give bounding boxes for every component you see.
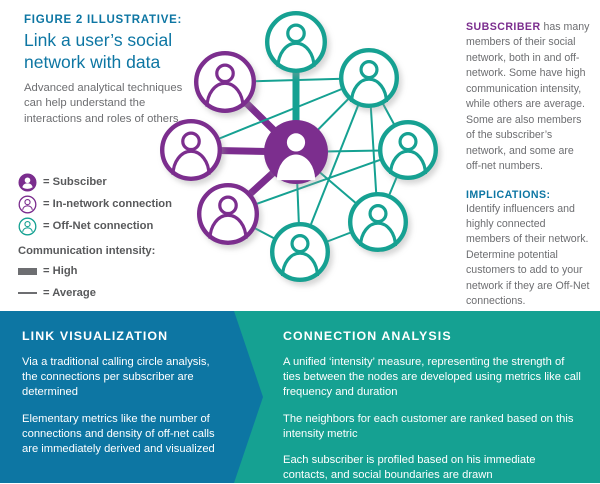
legend-label-high: = High: [43, 265, 78, 277]
subscriber-paragraph: SUBSCRIBER has many members of their soc…: [466, 20, 590, 175]
implications-paragraph: Identify influencers and highly connecte…: [466, 202, 590, 310]
right-annotations: SUBSCRIBER has many members of their soc…: [466, 20, 590, 324]
network-graph-svg: [150, 0, 450, 300]
infographic-page: FIGURE 2 ILLUSTRATIVE: Link a user’s soc…: [0, 0, 600, 483]
person-head-icon: [287, 133, 305, 151]
network-node-top-left[interactable]: [196, 53, 254, 111]
implications-heading: IMPLICATIONS:: [466, 189, 590, 201]
subscriber-body-text: has many members of their social network…: [466, 21, 589, 172]
link-visualization-para-2: Elementary metrics like the number of co…: [22, 412, 222, 458]
subscriber-filled-person-icon: [18, 173, 37, 192]
off-net-person-outline-icon: [18, 217, 37, 236]
legend-label-average: = Average: [43, 287, 96, 299]
social-network-diagram: [150, 0, 450, 300]
legend-label-off-net: = Off-Net connection: [43, 220, 153, 232]
link-visualization-para-1: Via a traditional calling circle analysi…: [22, 355, 222, 401]
network-nodes: [162, 13, 436, 280]
connection-analysis-para-1: A unified ‘intensity’ measure, represent…: [283, 355, 583, 401]
network-node-bottom[interactable]: [272, 224, 328, 280]
in-network-person-outline-icon: [18, 195, 37, 214]
network-node-top-right[interactable]: [341, 50, 397, 106]
network-node-left[interactable]: [162, 121, 220, 179]
network-node-top[interactable]: [267, 13, 325, 71]
network-node-center[interactable]: [264, 120, 328, 184]
connection-analysis-heading: CONNECTION ANALYSIS: [283, 329, 583, 343]
connection-analysis-para-2: The neighbors for each customer are rank…: [283, 412, 583, 442]
thin-line-swatch-icon: [18, 292, 37, 294]
subscriber-lead-label: SUBSCRIBER: [466, 21, 541, 33]
bottom-panels: LINK VISUALIZATION Via a traditional cal…: [0, 311, 600, 483]
connection-analysis-para-3: Each subscriber is profiled based on his…: [283, 453, 583, 483]
network-node-bottom-left[interactable]: [199, 185, 257, 243]
legend-label-subscriber: = Subsciber: [43, 176, 107, 188]
network-node-right[interactable]: [380, 122, 436, 178]
connection-analysis-panel: CONNECTION ANALYSIS A unified ‘intensity…: [283, 329, 583, 484]
network-node-bottom-right[interactable]: [350, 194, 406, 250]
link-visualization-panel: LINK VISUALIZATION Via a traditional cal…: [22, 329, 222, 457]
thick-line-swatch-icon: [18, 268, 37, 275]
link-visualization-heading: LINK VISUALIZATION: [22, 329, 222, 343]
